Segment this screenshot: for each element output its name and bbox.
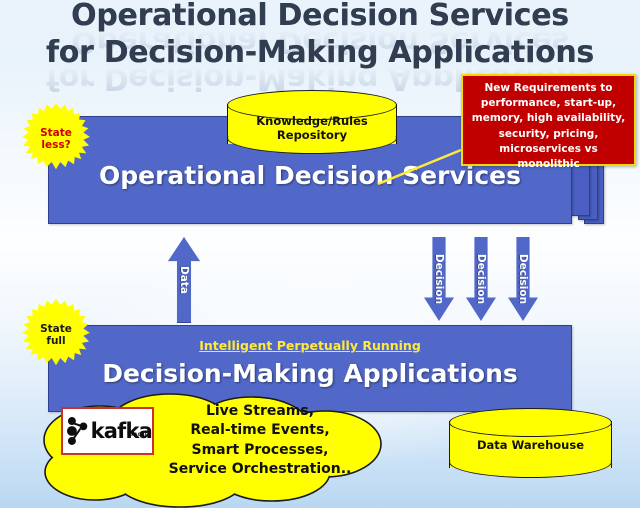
dw-cylinder-top [449, 408, 612, 437]
repository-label-line2: Repository [227, 128, 397, 142]
callout-line-4: security, pricing, [467, 127, 630, 142]
stateless-badge-label: State less? [20, 127, 92, 151]
cloud-line-2: Real-time Events, [140, 421, 380, 440]
cloud-line-4: Service Orchestration.. [140, 460, 380, 479]
repository-label-line1: Knowledge/Rules [227, 114, 397, 128]
knowledge-rules-repository-cylinder[interactable]: Knowledge/Rules Repository [227, 90, 397, 158]
stateless-line-2: less? [20, 139, 92, 151]
cloud-text-block: Live Streams, Real-time Events, Smart Pr… [140, 402, 380, 479]
decision-flow-arrow-2: Decision [466, 237, 496, 321]
data-warehouse-label: Data Warehouse [449, 438, 612, 452]
title-line-2: for Decision-Making Applications for Dec… [0, 38, 640, 71]
callout-line-1: New Requirements to [467, 81, 630, 96]
decision-flow-arrow-3: Decision [508, 237, 538, 321]
data-flow-arrow-up: Data [168, 237, 200, 323]
decision-arrow-2-label: Decision [475, 254, 487, 304]
stateful-line-1: State [20, 323, 92, 335]
callout-line-5: microservices vs monolithic [467, 142, 630, 172]
page-title: Operational Decision Services Operationa… [0, 1, 640, 71]
callout-line-2: performance, start-up, [467, 96, 630, 111]
dma-band-title: Decision-Making Applications [49, 359, 571, 388]
title-line-2-text: for Decision-Making Applications [46, 38, 594, 68]
cloud-line-3: Smart Processes, [140, 441, 380, 460]
kafka-node-graph-icon [65, 410, 90, 452]
stateless-line-1: State [20, 127, 92, 139]
dma-band-subtitle: Intelligent Perpetually Running [49, 338, 571, 353]
data-arrow-label: Data [178, 266, 190, 294]
decision-arrow-3-label: Decision [517, 254, 529, 304]
cloud-line-1: Live Streams, [140, 402, 380, 421]
stateful-badge-label: State full [20, 323, 92, 347]
repository-label: Knowledge/Rules Repository [227, 114, 397, 143]
kafka-wordmark: kafka [91, 419, 152, 443]
decision-arrow-1-label: Decision [433, 254, 445, 304]
slide-canvas: Operational Decision Services Operationa… [0, 0, 640, 508]
new-requirements-callout[interactable]: New Requirements to performance, start-u… [461, 74, 636, 166]
data-warehouse-cylinder[interactable]: Data Warehouse [449, 408, 612, 484]
decision-flow-arrow-1: Decision [424, 237, 454, 321]
kafka-apache-text: APACHE [128, 432, 148, 437]
callout-line-3: memory, high availability, [467, 111, 630, 126]
title-line-1-text: Operational Decision Services [71, 1, 569, 31]
apache-kafka-logo[interactable]: APACHE kafka [61, 407, 154, 455]
title-line-1: Operational Decision Services Operationa… [0, 1, 640, 34]
stateful-line-2: full [20, 335, 92, 347]
